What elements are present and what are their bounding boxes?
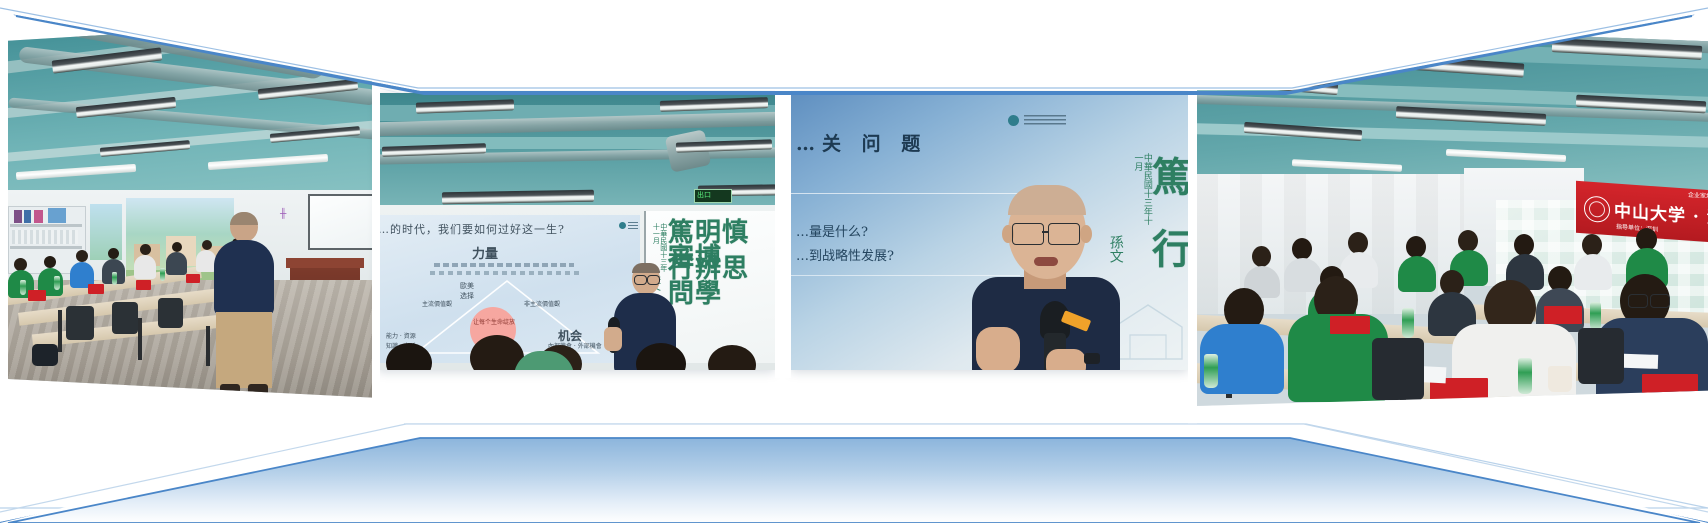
gallery-photo-1[interactable]: ╫ [8,18,380,398]
calligraphy-side-text-2: 中華民國十三年十一月 [1132,153,1151,233]
slide-title-2: …关 问 题 [796,129,927,156]
calligraphy-second-2: 行 [1152,231,1188,269]
gallery-photo-4[interactable]: 企业家培 中山大学 · 深圳 指导单位：深圳 [1196,22,1708,406]
speaker-figure [972,181,1120,370]
slide-center-label: 让每个生命绽放 [473,319,515,327]
whiteboard [308,194,380,250]
slide-line-2: …到战略性发展? [796,245,894,264]
instructor-figure [210,212,280,398]
exit-sign: 出口 [694,189,732,203]
banner-subtext-top: 企业家培 [1688,190,1708,201]
gallery-photo-2[interactable]: 出口 …的时代，我们要如何过好这一生? 力量 歐美 选择 让每个生命绽放 主流價… [378,93,775,370]
gallery-photo-3[interactable]: …关 问 题 …量是什么? …到战略性发展? 中華民國十三年十一月 篤 行 孫文 [790,93,1188,370]
calligraphy-second: 行辨思問學 [668,257,775,306]
slide-headline: …的时代，我们要如何过好这一生? [378,221,565,237]
frame-divider-left [372,0,380,523]
calligraphy-main-2: 篤 [1152,159,1188,197]
frame-divider-right [1188,0,1197,523]
gallery-stage: ╫ [0,0,1708,523]
frame-divider-mid [775,88,791,378]
eyeglasses [1012,223,1044,245]
slide-line-1: …量是什么? [796,221,868,240]
slide-section-title: 力量 [472,243,498,262]
